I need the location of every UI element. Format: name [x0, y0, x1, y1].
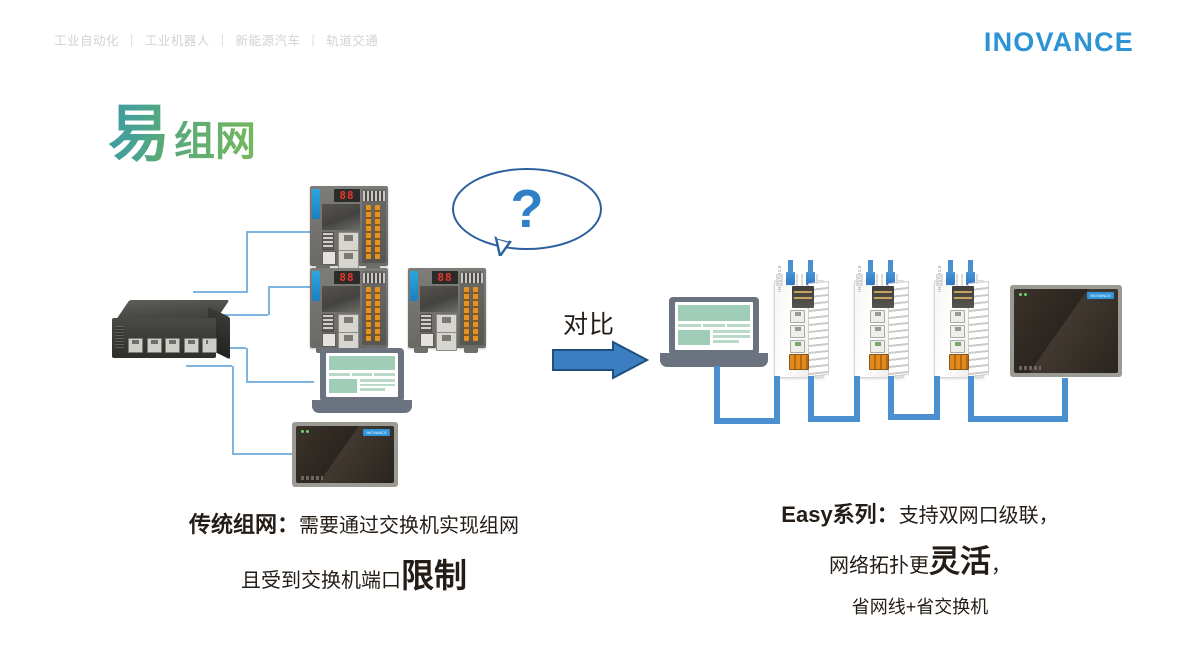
plc-terminal-block	[420, 333, 434, 347]
laptop-base	[660, 353, 768, 367]
easy-caption-line1: Easy系列：支持双网口级联，	[720, 498, 1120, 531]
plc-io-led-row	[363, 191, 385, 201]
plc-led-display: 88	[334, 271, 360, 284]
nav-item-new-energy-vehicle[interactable]: 新能源汽车	[234, 30, 303, 49]
plc-orange-terminal	[366, 287, 371, 341]
plc-orange-terminal	[375, 205, 380, 259]
plc-panel-line	[874, 291, 892, 293]
connector-line	[246, 348, 248, 382]
legacy-plc-module[interactable]: 88	[310, 186, 388, 272]
plc-rj45-port[interactable]	[436, 332, 457, 351]
connector-line	[232, 453, 294, 455]
screen-block	[329, 379, 357, 393]
hmi-label-strip	[301, 476, 323, 480]
plc-faceplate	[420, 286, 458, 312]
ethernet-cable	[934, 376, 940, 420]
header-nav: 工业自动化 | 工业机器人 | 新能源汽车 | 轨道交通	[52, 30, 380, 49]
plc-panel-line	[954, 297, 972, 299]
plc-foot	[414, 347, 428, 353]
plc-orange-terminal	[375, 287, 380, 341]
screen-line	[352, 373, 373, 376]
legacy-caption-line1: 传统组网：需要通过交换机实现组网	[84, 508, 624, 541]
plc-faceplate	[322, 286, 360, 312]
plc-io-panel	[362, 189, 386, 263]
easy-caption-line3: 省网线+省交换机	[720, 594, 1120, 621]
plc-io-panel	[362, 271, 386, 345]
switch-port	[147, 338, 162, 353]
plc-orange-terminal	[473, 287, 478, 341]
plc-io-led-row	[461, 273, 483, 283]
plc-dark-panel	[952, 286, 974, 308]
easy-plc-module[interactable]: INOVANCE	[768, 272, 830, 382]
plc-orange-terminal	[869, 354, 889, 370]
plc-port-cap	[946, 272, 955, 285]
screen-line	[678, 324, 701, 327]
legacy-hmi-panel[interactable]: INOVANCE	[292, 422, 398, 487]
easy-caption: Easy系列：支持双网口级联， 网络拓扑更灵活， 省网线+省交换机	[720, 498, 1120, 621]
switch-port	[165, 338, 180, 353]
plc-led-value: 88	[437, 272, 452, 283]
plc-led-display: 88	[334, 189, 360, 202]
plc-io-led-row	[363, 273, 385, 283]
easy-caption-emphasis: 灵活	[929, 544, 991, 579]
plc-foot	[464, 347, 478, 353]
plc-rj45-port[interactable]	[338, 314, 359, 333]
hmi-brand-badge: INOVANCE	[363, 429, 390, 436]
laptop-lid	[669, 297, 759, 355]
plc-brand-label: INOVANCE	[857, 265, 862, 292]
laptop-screen	[326, 353, 398, 397]
easy-caption-line2: 网络拓扑更灵活，	[720, 539, 1120, 586]
nav-item-rail-transit[interactable]: 轨道交通	[324, 30, 380, 49]
connector-line	[232, 366, 234, 454]
easy-caption-text2: 网络拓扑更	[829, 555, 929, 577]
easy-hmi-panel[interactable]: INOVANCE	[1010, 285, 1122, 377]
ethernet-cable	[808, 416, 860, 422]
legacy-caption-title: 传统组网：	[189, 512, 299, 537]
screen-line	[713, 330, 750, 333]
compare-arrow-icon	[551, 340, 649, 380]
laptop-base	[312, 400, 412, 413]
hmi-label-strip	[1019, 366, 1041, 370]
inovance-logo: INOVANCE	[984, 27, 1134, 58]
screen-line	[360, 379, 395, 382]
screen-block	[329, 356, 395, 370]
plc-rj45-port[interactable]	[870, 325, 885, 338]
ethernet-cable	[714, 366, 720, 422]
plc-faceplate	[322, 204, 360, 230]
hmi-status-leds	[301, 430, 309, 433]
hmi-brand-badge: INOVANCE	[1087, 292, 1114, 299]
switch-vent	[115, 326, 124, 348]
connector-line	[246, 232, 248, 292]
legacy-caption-text: 需要通过交换机实现组网	[299, 515, 519, 537]
plc-rj45-port[interactable]	[790, 340, 805, 353]
nav-separator: |	[121, 33, 143, 47]
page-title-sub: 组网	[174, 121, 256, 162]
plc-rj45-port[interactable]	[950, 340, 965, 353]
screen-block	[678, 330, 710, 345]
easy-plc-module[interactable]: INOVANCE	[848, 272, 910, 382]
plc-brand-label: INOVANCE	[777, 265, 782, 292]
plc-led-value: 88	[339, 272, 354, 283]
connector-line	[268, 286, 314, 288]
plc-led-display: 88	[432, 271, 458, 284]
plc-rj45-port[interactable]	[338, 232, 359, 251]
page-title-main: 易	[108, 103, 170, 165]
plc-rj45-port[interactable]	[338, 250, 359, 269]
connector-line	[268, 287, 270, 315]
screen-line	[360, 384, 395, 387]
legacy-caption-text2: 且受到交换机端口	[241, 570, 401, 592]
nav-item-industrial-automation[interactable]: 工业自动化	[52, 30, 121, 49]
connector-line	[246, 381, 314, 383]
legacy-plc-module[interactable]: 88	[310, 268, 388, 354]
plc-rj45-port[interactable]	[950, 310, 965, 323]
question-mark-icon: ?	[452, 168, 602, 250]
easy-caption-text: 支持双网口级联，	[899, 505, 1059, 527]
screen-block	[678, 305, 750, 321]
switch-port-group	[128, 338, 217, 353]
ethernet-cable	[888, 414, 940, 420]
screen-line	[703, 324, 726, 327]
ethernet-cable	[1062, 378, 1068, 422]
screen-line	[727, 324, 750, 327]
screen-line	[360, 388, 385, 391]
plc-rj45-port[interactable]	[870, 310, 885, 323]
easy-caption-title: Easy系列：	[781, 502, 898, 527]
plc-dark-panel	[792, 286, 814, 308]
plc-rj45-port[interactable]	[790, 325, 805, 338]
hmi-status-leds	[1019, 293, 1027, 296]
legacy-caption-line2: 且受到交换机端口限制	[84, 551, 624, 601]
plc-orange-terminal	[949, 354, 969, 370]
screen-line	[329, 373, 350, 376]
plc-panel-line	[874, 297, 892, 299]
slide-canvas: 工业自动化 | 工业机器人 | 新能源汽车 | 轨道交通 INOVANCE 易 …	[0, 0, 1192, 653]
page-title: 易 组网	[108, 103, 256, 165]
screen-line	[713, 335, 750, 338]
nav-item-industrial-robot[interactable]: 工业机器人	[143, 30, 212, 49]
laptop-screen	[675, 302, 753, 350]
plc-blue-strip	[312, 189, 320, 219]
plc-port-cap	[866, 272, 875, 285]
plc-port-cap	[786, 272, 795, 285]
plc-orange-terminal	[789, 354, 809, 370]
screen-line	[374, 373, 395, 376]
hmi-screen: INOVANCE	[1014, 289, 1118, 373]
hmi-screen: INOVANCE	[296, 426, 394, 483]
connector-line	[246, 231, 312, 233]
connector-line	[193, 291, 248, 293]
plc-dark-panel	[872, 286, 894, 308]
easy-caption-comma: ，	[991, 555, 1011, 577]
ethernet-cable	[968, 416, 1068, 422]
easy-plc-module[interactable]: INOVANCE	[928, 272, 990, 382]
legacy-caption: 传统组网：需要通过交换机实现组网 且受到交换机端口限制	[84, 508, 624, 601]
switch-port	[128, 338, 143, 353]
plc-terminal-block	[322, 333, 336, 347]
plc-rj45-port[interactable]	[436, 314, 457, 333]
plc-rj45-port[interactable]	[950, 325, 965, 338]
plc-dip-switch[interactable]	[322, 314, 334, 332]
plc-panel-line	[954, 291, 972, 293]
plc-io-panel	[460, 271, 484, 345]
nav-separator: |	[212, 33, 234, 47]
plc-panel-line	[794, 291, 812, 293]
ethernet-cable	[774, 376, 780, 424]
ethernet-cable	[854, 376, 860, 422]
legacy-caption-emphasis: 限制	[401, 557, 467, 594]
plc-dip-switch[interactable]	[322, 232, 334, 250]
screen-line	[713, 340, 739, 343]
plc-orange-terminal	[464, 287, 469, 341]
question-speech-bubble: ?	[452, 168, 602, 256]
nav-separator: |	[303, 33, 325, 47]
legacy-plc-module-unconnected[interactable]: 88	[408, 268, 486, 354]
plc-dip-switch[interactable]	[420, 314, 432, 332]
plc-terminal-block	[322, 251, 336, 265]
laptop-lid	[320, 348, 404, 402]
plc-orange-terminal	[366, 205, 371, 259]
switch-power-jack	[208, 340, 214, 348]
compare-label: 对比	[563, 305, 615, 341]
plc-rj45-port[interactable]	[790, 310, 805, 323]
network-switch[interactable]	[112, 300, 230, 366]
plc-blue-strip	[410, 271, 418, 301]
plc-blue-strip	[312, 271, 320, 301]
switch-port	[184, 338, 199, 353]
plc-brand-label: INOVANCE	[937, 265, 942, 292]
plc-led-value: 88	[339, 190, 354, 201]
ethernet-cable	[714, 418, 780, 424]
plc-panel-line	[794, 297, 812, 299]
plc-rj45-port[interactable]	[870, 340, 885, 353]
